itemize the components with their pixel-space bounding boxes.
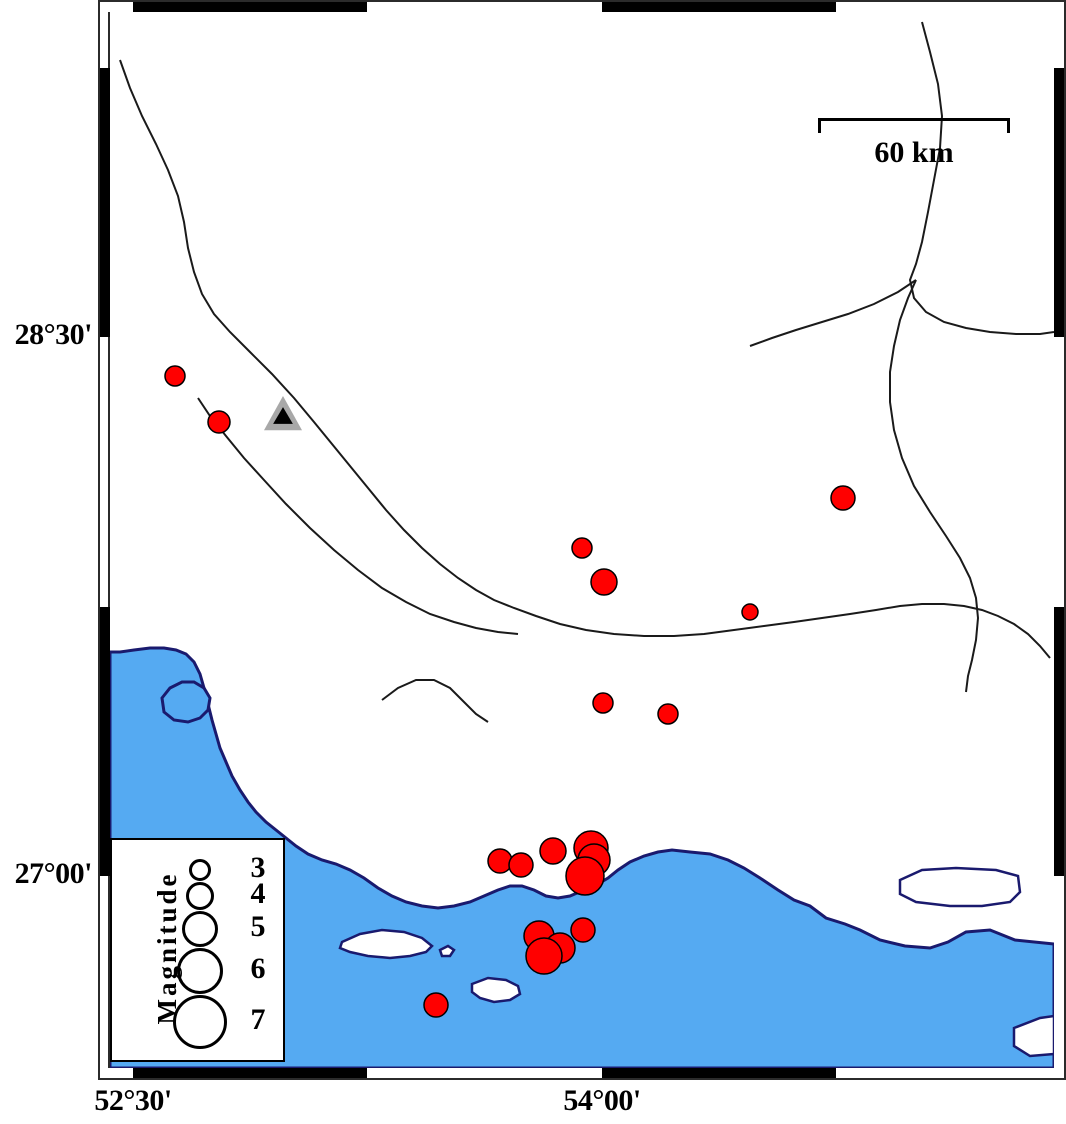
- epicenter-marker[interactable]: [165, 366, 185, 386]
- longitude-label: 52°30': [43, 1084, 223, 1118]
- island-right: [900, 868, 1020, 906]
- epicenter-marker[interactable]: [593, 693, 613, 713]
- legend-label-4: 4: [240, 877, 276, 911]
- frame-tick-top-2: [602, 2, 836, 12]
- scale-bar-line: [818, 118, 1010, 121]
- legend-circle-7: [173, 995, 227, 1049]
- map-figure: 60 km Magnitude 34567 28°30'27°00' 52°30…: [0, 0, 1066, 1124]
- scale-bar-label: 60 km: [818, 136, 1010, 170]
- legend-circle-4: [186, 882, 214, 910]
- frame-tick-right-2: [1054, 607, 1064, 876]
- latitude-label: 27°00': [0, 857, 92, 891]
- epicenter-marker[interactable]: [831, 486, 855, 510]
- legend-label-6: 6: [240, 952, 276, 986]
- epicenter-marker[interactable]: [658, 704, 678, 724]
- legend-circle-5: [182, 911, 218, 947]
- frame-tick-right-1: [1054, 68, 1064, 337]
- frame-tick-left-2: [100, 607, 110, 876]
- bay-inlet: [162, 682, 210, 722]
- epicenter-marker[interactable]: [424, 993, 448, 1017]
- legend-label-5: 5: [240, 910, 276, 944]
- epicenter-marker[interactable]: [742, 604, 758, 620]
- epicenter-marker[interactable]: [566, 857, 604, 895]
- latitude-label: 28°30': [0, 318, 92, 352]
- frame-tick-left-1: [100, 68, 110, 337]
- scale-bar: 60 km: [818, 118, 1010, 164]
- scale-bar-tick-left: [818, 118, 821, 133]
- frame-tick-bottom-2: [602, 1068, 836, 1078]
- frame-outer-bottom: [98, 1078, 1066, 1080]
- epicenter-marker[interactable]: [526, 938, 562, 974]
- epicenter-marker[interactable]: [509, 853, 533, 877]
- frame-tick-bottom-1: [133, 1068, 367, 1078]
- epicenter-marker[interactable]: [571, 918, 595, 942]
- legend-circle-6: [177, 948, 223, 994]
- scale-bar-tick-right: [1007, 118, 1010, 133]
- legend-circle-3: [189, 859, 211, 881]
- epicenter-marker[interactable]: [488, 849, 512, 873]
- epicenter-marker[interactable]: [572, 538, 592, 558]
- epicenter-marker[interactable]: [540, 838, 566, 864]
- legend-label-7: 7: [240, 1003, 276, 1037]
- epicenter-marker[interactable]: [591, 569, 617, 595]
- epicenter-marker[interactable]: [208, 411, 230, 433]
- magnitude-legend: Magnitude 34567: [110, 838, 285, 1062]
- frame-tick-top-1: [133, 2, 367, 12]
- longitude-label: 54°00': [512, 1084, 692, 1118]
